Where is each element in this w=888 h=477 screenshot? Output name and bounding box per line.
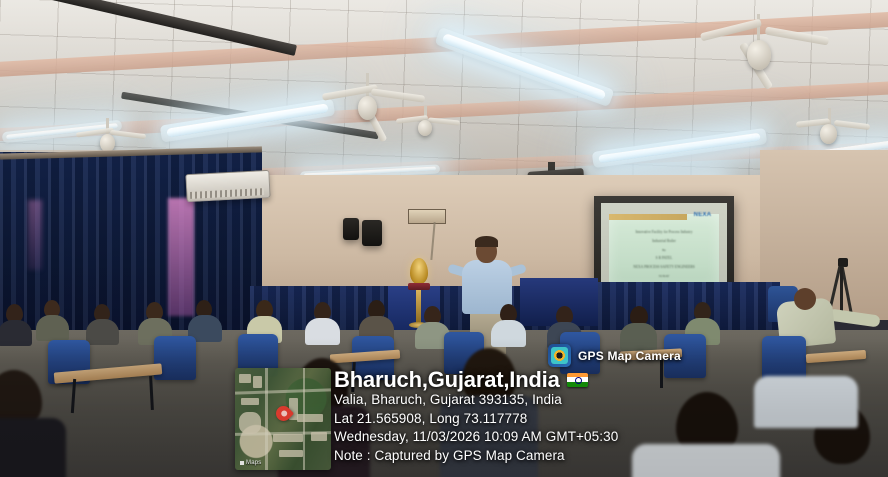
- presenter-hair: [475, 236, 498, 247]
- ceiling-fan-motor: [418, 120, 432, 136]
- attendee-torso: [620, 323, 657, 351]
- wall-speaker: [343, 218, 359, 240]
- wall-speaker: [362, 220, 382, 246]
- attendee-torso: [36, 315, 69, 341]
- slide-line: NEXA PROCESS SAFETY ENGINEERS: [609, 265, 719, 269]
- slide-line: S R PATEL: [609, 256, 719, 260]
- attendee-torso: [278, 406, 370, 477]
- attendee-torso: [305, 318, 340, 345]
- idol-base: [408, 283, 430, 290]
- ceiling-fan-motor: [820, 124, 837, 144]
- attendee-torso: [0, 418, 66, 477]
- attendee-torso: [491, 320, 526, 347]
- attendee-head: [794, 288, 816, 310]
- slide-line: Industrial Boiler: [609, 239, 719, 243]
- chair-leg: [660, 360, 663, 388]
- framed-sign: [408, 209, 446, 224]
- golden-idol: [410, 258, 428, 284]
- photo-canvas: Innovative Facility for Process Industry…: [0, 0, 888, 477]
- ceiling-fan-motor: [358, 96, 377, 120]
- slide-line: Innovative Facility for Process Industry: [609, 230, 719, 234]
- attendee-torso: [86, 319, 119, 345]
- chair: [238, 334, 278, 376]
- ceiling-fan-motor: [747, 40, 771, 70]
- slide-line: By: [609, 248, 719, 252]
- slide-line: SURAT: [609, 274, 719, 278]
- slide-accent-band: [609, 214, 687, 220]
- attendee-torso: [440, 396, 538, 477]
- chair: [560, 332, 600, 374]
- attendee-torso: [632, 444, 780, 477]
- nexa-logo: NEXA: [686, 209, 719, 220]
- attendee-torso: [754, 376, 858, 428]
- window-light: [168, 198, 194, 316]
- slide-content: Innovative Facility for Process Industry…: [609, 214, 719, 288]
- attendee-torso: [0, 320, 32, 346]
- brass-lamp-stand: [416, 290, 421, 324]
- window-light: [28, 200, 42, 270]
